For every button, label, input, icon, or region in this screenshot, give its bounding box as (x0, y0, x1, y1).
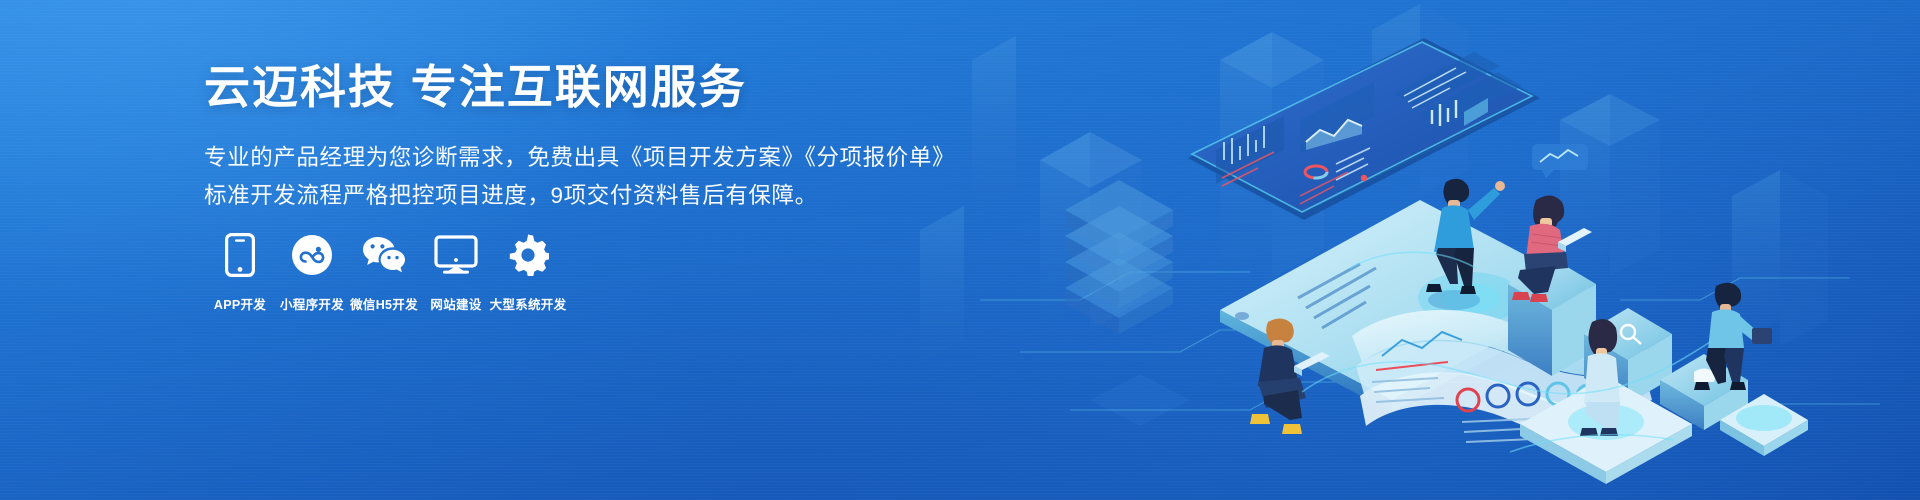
server-stack (1065, 180, 1173, 334)
service-label: 大型系统开发 (490, 294, 567, 313)
subtitle-line-1: 专业的产品经理为您诊断需求，免费出具《项目开发方案》《分项报价单》 (204, 139, 904, 178)
service-label: APP开发 (214, 294, 266, 313)
service-item-app[interactable]: APP开发 (204, 232, 276, 313)
monitor-icon (434, 232, 478, 278)
mobile-phone-icon (225, 232, 255, 278)
illustration (920, 0, 1920, 500)
subtitle-line-2: 标准开发流程严格把控项目进度，9项交付资料售后有保障。 (204, 177, 904, 216)
service-item-large-system[interactable]: 大型系统开发 (492, 232, 564, 313)
service-item-wechat-h5[interactable]: 微信H5开发 (348, 232, 420, 313)
service-item-miniprogram[interactable]: 小程序开发 (276, 232, 348, 313)
service-list: APP开发 小程序开发 (204, 232, 564, 313)
banner-copy: 云迈科技 专注互联网服务 专业的产品经理为您诊断需求，免费出具《项目开发方案》《… (204, 62, 904, 216)
mini-program-icon (291, 232, 333, 278)
service-label: 网站建设 (430, 294, 481, 313)
wechat-icon (361, 232, 407, 278)
service-item-website[interactable]: 网站建设 (420, 232, 492, 313)
gear-icon (507, 232, 549, 278)
service-label: 微信H5开发 (350, 294, 418, 313)
page-title: 云迈科技 专注互联网服务 (204, 62, 904, 113)
promo-banner: 云迈科技 专注互联网服务 专业的产品经理为您诊断需求，免费出具《项目开发方案》《… (0, 0, 1920, 500)
service-label: 小程序开发 (280, 294, 344, 313)
